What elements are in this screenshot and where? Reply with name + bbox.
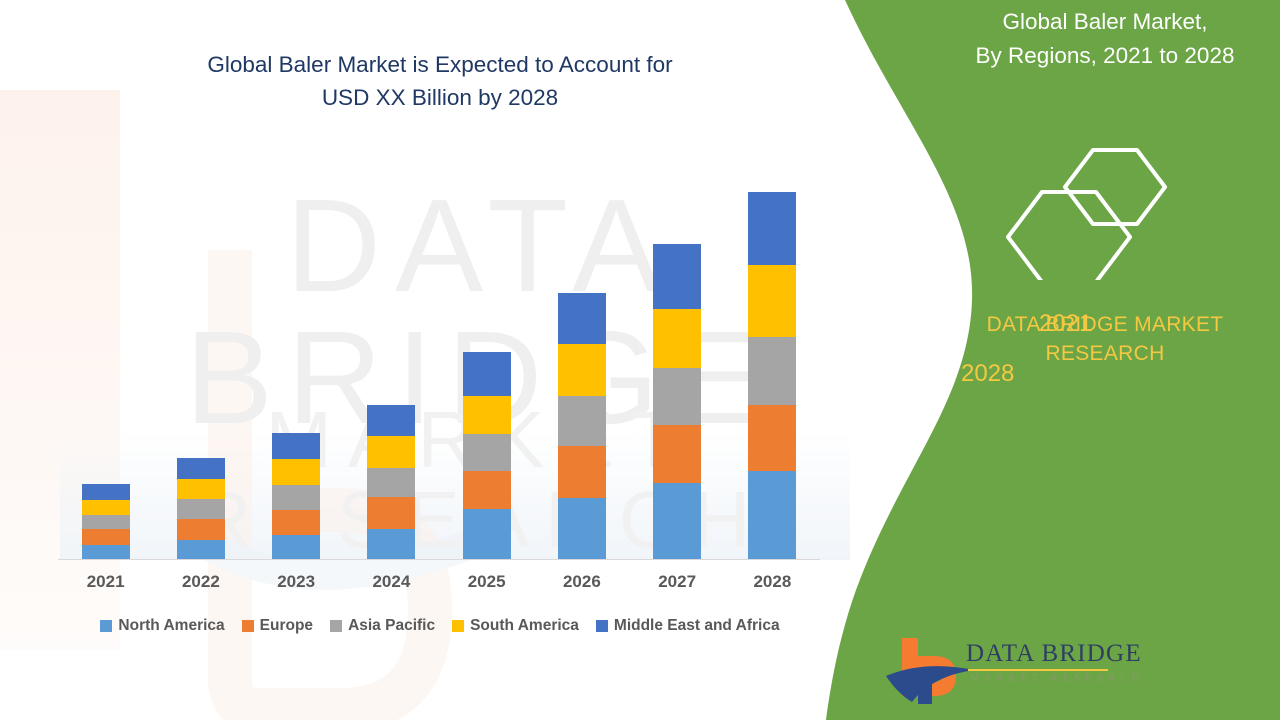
chart-title-line2: USD XX Billion by 2028 [60, 81, 820, 114]
legend-label: North America [118, 617, 224, 635]
bar-segment[interactable] [367, 497, 415, 529]
chart-plot-area [58, 150, 820, 560]
x-axis-label: 2021 [58, 572, 153, 592]
bar-segment[interactable] [463, 471, 511, 509]
legend-item[interactable]: Europe [242, 617, 313, 635]
bar-stack[interactable] [82, 484, 130, 559]
x-axis-label: 2025 [439, 572, 534, 592]
bar-segment[interactable] [748, 405, 796, 471]
bar-segment[interactable] [463, 434, 511, 471]
bar-segment[interactable] [82, 500, 130, 515]
chart-title: Global Baler Market is Expected to Accou… [60, 48, 820, 114]
bar-segment[interactable] [272, 433, 320, 459]
legend-label: South America [470, 617, 579, 635]
bar-stack[interactable] [653, 244, 701, 559]
panel-title-line1: Global Baler Market, [930, 5, 1280, 39]
x-axis-label: 2026 [534, 572, 629, 592]
x-axis-label: 2023 [249, 572, 344, 592]
bar-stack[interactable] [272, 433, 320, 559]
bar-slot [344, 150, 439, 559]
panel-title: Global Baler Market, By Regions, 2021 to… [930, 5, 1280, 73]
bar-segment[interactable] [463, 352, 511, 396]
bar-segment[interactable] [653, 483, 701, 559]
legend-label: Europe [260, 617, 313, 635]
bar-stack[interactable] [558, 293, 606, 559]
bar-segment[interactable] [653, 244, 701, 309]
hexagon-small-2021 [1065, 150, 1165, 224]
x-axis-line [58, 559, 820, 560]
bar-segment[interactable] [558, 293, 606, 345]
bar-segment[interactable] [463, 396, 511, 434]
legend-swatch-icon [100, 620, 112, 632]
bar-segment[interactable] [653, 368, 701, 425]
bar-segment[interactable] [177, 479, 225, 499]
bar-segment[interactable] [653, 425, 701, 483]
bar-slot [630, 150, 725, 559]
brand-name: DATA BRIDGE MARKET RESEARCH [935, 310, 1275, 368]
bar-segment[interactable] [272, 535, 320, 559]
hexagon-outlines-icon [950, 140, 1270, 280]
legend-item[interactable]: Asia Pacific [330, 617, 435, 635]
bar-segment[interactable] [748, 265, 796, 337]
bar-slot [58, 150, 153, 559]
bar-segment[interactable] [558, 498, 606, 559]
legend-item[interactable]: South America [452, 617, 579, 635]
x-axis-label: 2022 [153, 572, 248, 592]
bar-slot [439, 150, 534, 559]
bar-segment[interactable] [177, 519, 225, 540]
bar-segment[interactable] [272, 485, 320, 510]
bar-segment[interactable] [177, 458, 225, 479]
bar-segment[interactable] [82, 529, 130, 545]
x-axis-label: 2028 [725, 572, 820, 592]
logo-divider [968, 669, 1108, 671]
bar-segment[interactable] [82, 484, 130, 500]
bar-group [58, 150, 820, 559]
bar-segment[interactable] [558, 344, 606, 396]
data-bridge-b-icon [882, 632, 977, 708]
bar-segment[interactable] [367, 436, 415, 468]
panel-content: Global Baler Market, By Regions, 2021 to… [940, 0, 1280, 720]
bar-segment[interactable] [82, 545, 130, 559]
bar-segment[interactable] [463, 509, 511, 559]
bar-segment[interactable] [558, 396, 606, 446]
bar-slot [153, 150, 248, 559]
slide-root: DATA BRIDGE MARKET RESEARCH Global Baler… [0, 0, 1280, 720]
bar-segment[interactable] [177, 499, 225, 519]
bar-segment[interactable] [272, 510, 320, 535]
logo-subtext: MARKET RESEARCH [970, 673, 1145, 684]
bar-stack[interactable] [177, 458, 225, 559]
bar-stack[interactable] [367, 405, 415, 559]
bar-segment[interactable] [367, 405, 415, 436]
bar-segment[interactable] [177, 540, 225, 559]
bar-slot [725, 150, 820, 559]
x-axis-labels: 20212022202320242025202620272028 [58, 572, 820, 592]
bar-stack[interactable] [748, 192, 796, 559]
hexagon-large-2028 [1008, 192, 1130, 280]
legend-label: Middle East and Africa [614, 617, 780, 635]
brand-line1: DATA BRIDGE MARKET [935, 310, 1275, 339]
bar-segment[interactable] [558, 446, 606, 498]
bar-segment[interactable] [653, 309, 701, 368]
bar-slot [534, 150, 629, 559]
legend-swatch-icon [596, 620, 608, 632]
legend-item[interactable]: North America [100, 617, 224, 635]
hexagon-group: 2028 2021 [950, 140, 1270, 280]
bar-segment[interactable] [367, 529, 415, 559]
chart-legend: North AmericaEuropeAsia PacificSouth Ame… [40, 617, 840, 635]
panel-title-line2: By Regions, 2021 to 2028 [930, 39, 1280, 73]
x-axis-label: 2024 [344, 572, 439, 592]
logo-wordmark: DATA BRIDGE [966, 640, 1142, 668]
legend-label: Asia Pacific [348, 617, 435, 635]
chart-title-line1: Global Baler Market is Expected to Accou… [60, 48, 820, 81]
bar-segment[interactable] [748, 337, 796, 405]
x-axis-label: 2027 [630, 572, 725, 592]
bar-stack[interactable] [463, 352, 511, 559]
legend-item[interactable]: Middle East and Africa [596, 617, 780, 635]
bar-segment[interactable] [82, 515, 130, 529]
bar-segment[interactable] [748, 471, 796, 559]
legend-swatch-icon [452, 620, 464, 632]
company-logo: DATA BRIDGE MARKET RESEARCH [882, 632, 1132, 712]
legend-swatch-icon [242, 620, 254, 632]
brand-line2: RESEARCH [935, 339, 1275, 368]
bar-segment[interactable] [367, 468, 415, 497]
legend-swatch-icon [330, 620, 342, 632]
bar-segment[interactable] [748, 192, 796, 265]
bar-slot [249, 150, 344, 559]
bar-segment[interactable] [272, 459, 320, 485]
